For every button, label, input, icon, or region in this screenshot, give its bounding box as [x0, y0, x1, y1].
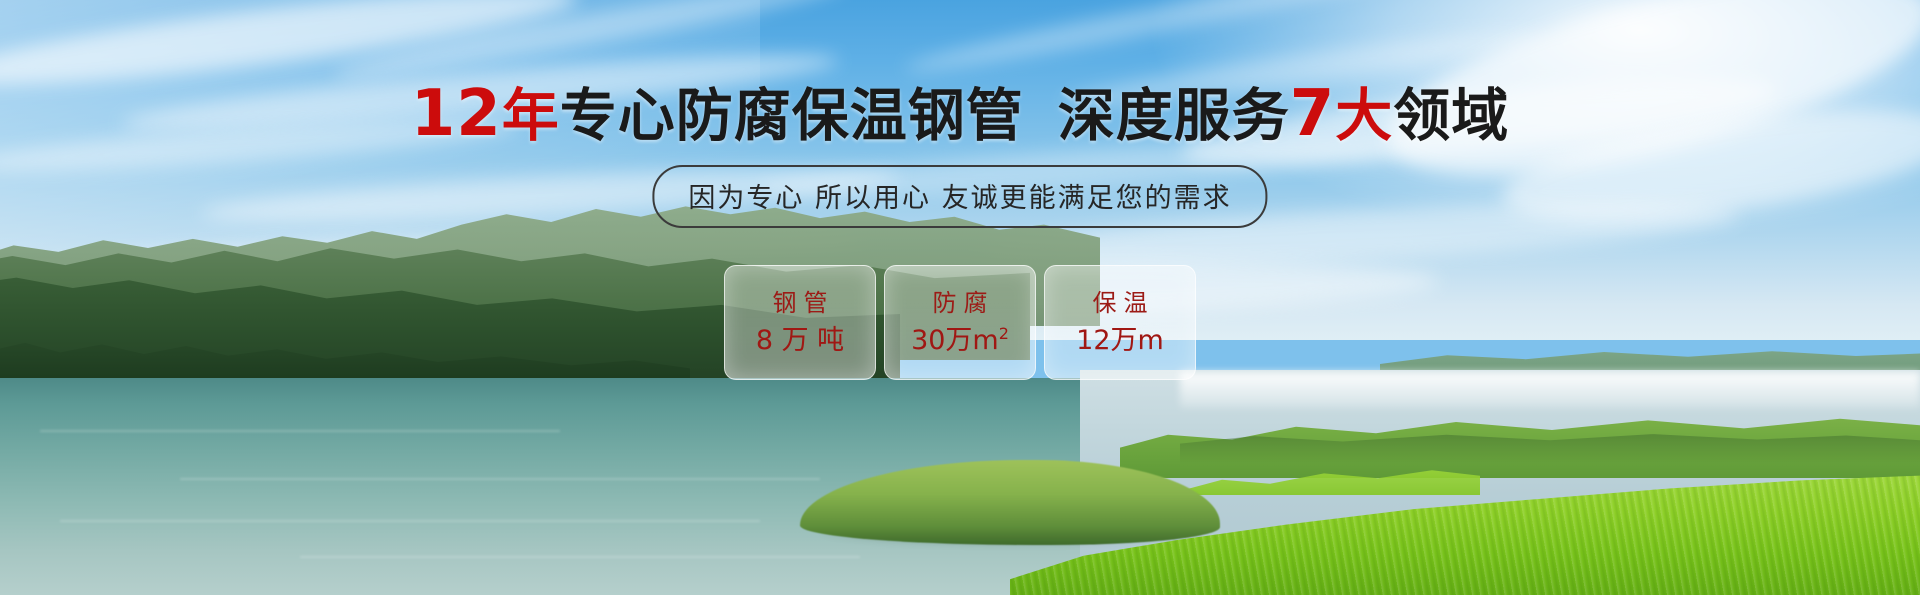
headline-main-text: 专心防腐保温钢管 — [560, 83, 1024, 149]
water-ripple — [180, 478, 820, 480]
stat-card-value: 30万m2 — [911, 327, 1009, 354]
stat-card-steel-pipe[interactable]: 钢管 8 万 吨 — [724, 265, 876, 380]
headline-seven-unit: 大 — [1335, 83, 1393, 149]
stat-card-insulation[interactable]: 保温 12万m — [1044, 265, 1196, 380]
stat-card-title: 保温 — [1086, 291, 1155, 315]
headline-seven-number: 7 — [1290, 77, 1336, 151]
stat-card-value: 12万m — [1076, 327, 1164, 354]
banner-subtitle-pill: 因为专心 所以用心 友诚更能满足您的需求 — [652, 165, 1267, 228]
stat-card-title: 防腐 — [926, 291, 995, 315]
stat-card-value-superscript: 2 — [999, 324, 1009, 343]
hero-banner: 12年专心防腐保温钢管深度服务7大领域 因为专心 所以用心 友诚更能满足您的需求… — [0, 0, 1920, 595]
stat-card-value-main: 30万m — [911, 325, 999, 356]
headline-fields-text: 领域 — [1393, 83, 1509, 149]
water-ripple — [60, 520, 760, 522]
water-sheen — [1180, 372, 1920, 408]
stat-card-value: 8 万 吨 — [756, 327, 844, 354]
headline-service-text: 深度服务 — [1058, 83, 1290, 149]
banner-headline: 12年专心防腐保温钢管深度服务7大领域 — [0, 82, 1920, 146]
stat-card-title: 钢管 — [766, 291, 835, 315]
stat-card-group: 钢管 8 万 吨 防腐 30万m2 保温 12万m — [724, 265, 1196, 380]
headline-years-number: 12 — [411, 77, 502, 151]
water-ripple — [300, 556, 860, 558]
stat-card-anticorrosion[interactable]: 防腐 30万m2 — [884, 265, 1036, 380]
water-ripple — [40, 430, 560, 432]
headline-years-unit: 年 — [502, 83, 560, 149]
